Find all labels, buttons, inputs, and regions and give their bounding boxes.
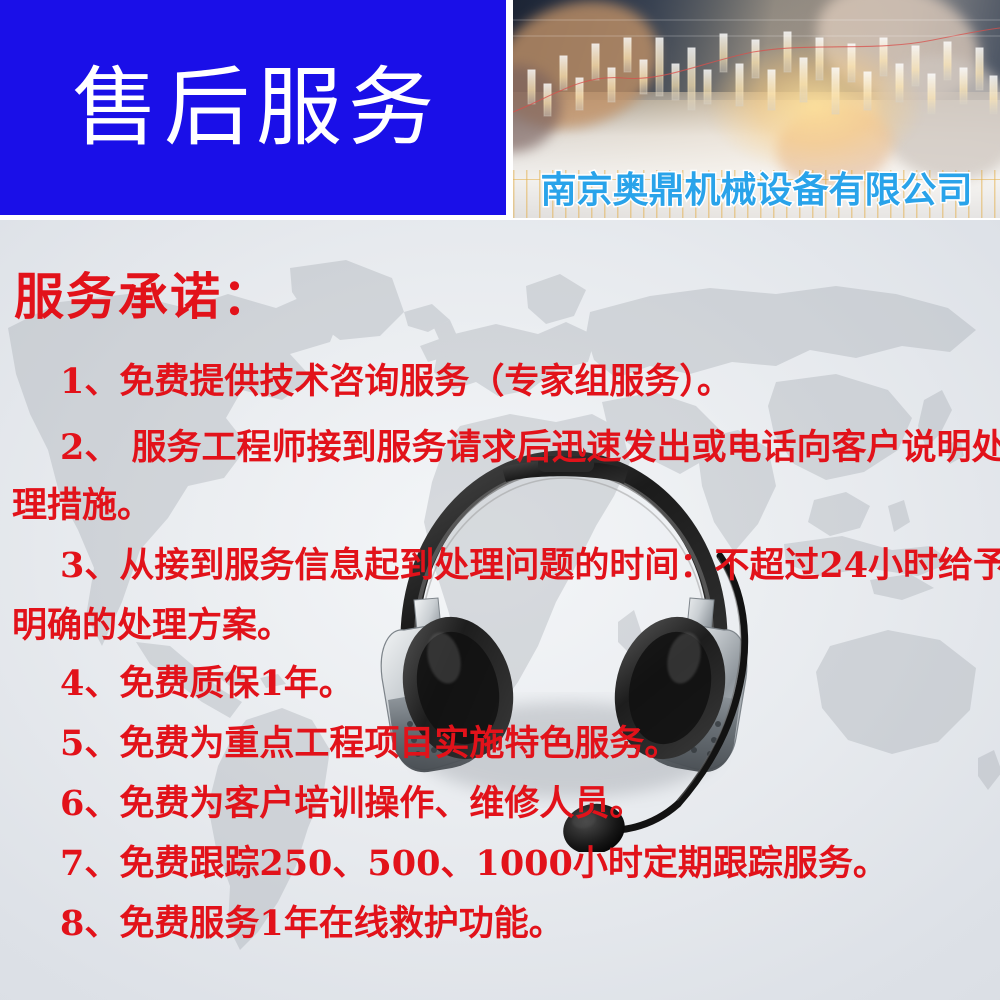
page-title: 售后服务 (66, 65, 440, 151)
header-photo: 南京奥鼎机械设备有限公司 (513, 0, 1000, 218)
section-heading: 服务承诺： (14, 272, 274, 322)
service-item-1: 1、免费提供技术咨询服务（专家组服务）。 (0, 364, 1000, 399)
service-item-3-continued: 明确的处理方案。 (0, 608, 1000, 643)
service-item-4: 4、免费质保1年。 (0, 666, 1000, 701)
service-item-7: 7、免费跟踪250、500、1000小时定期跟踪服务。 (0, 846, 1000, 881)
top-banner: 售后服务 (0, 0, 1000, 220)
service-promise-content: 服务承诺： 1、免费提供技术咨询服务（专家组服务）。 2、 服务工程师接到服务请… (0, 250, 1000, 1000)
title-banner-blue-box: 售后服务 (0, 0, 506, 215)
service-item-2-continued: 理措施。 (0, 488, 1000, 523)
company-name: 南京奥鼎机械设备有限公司 (513, 173, 1000, 209)
service-item-8: 8、免费服务1年在线救护功能。 (0, 906, 1000, 941)
service-item-3: 3、从接到服务信息起到处理问题的时间：不超过24小时给予 (0, 548, 1000, 583)
service-item-6: 6、免费为客户培训操作、维修人员。 (0, 786, 1000, 821)
service-item-2: 2、 服务工程师接到服务请求后迅速发出或电话向客户说明处 (0, 430, 1000, 465)
poster-page: 售后服务 (0, 0, 1000, 1000)
service-item-5: 5、免费为重点工程项目实施特色服务。 (0, 726, 1000, 761)
